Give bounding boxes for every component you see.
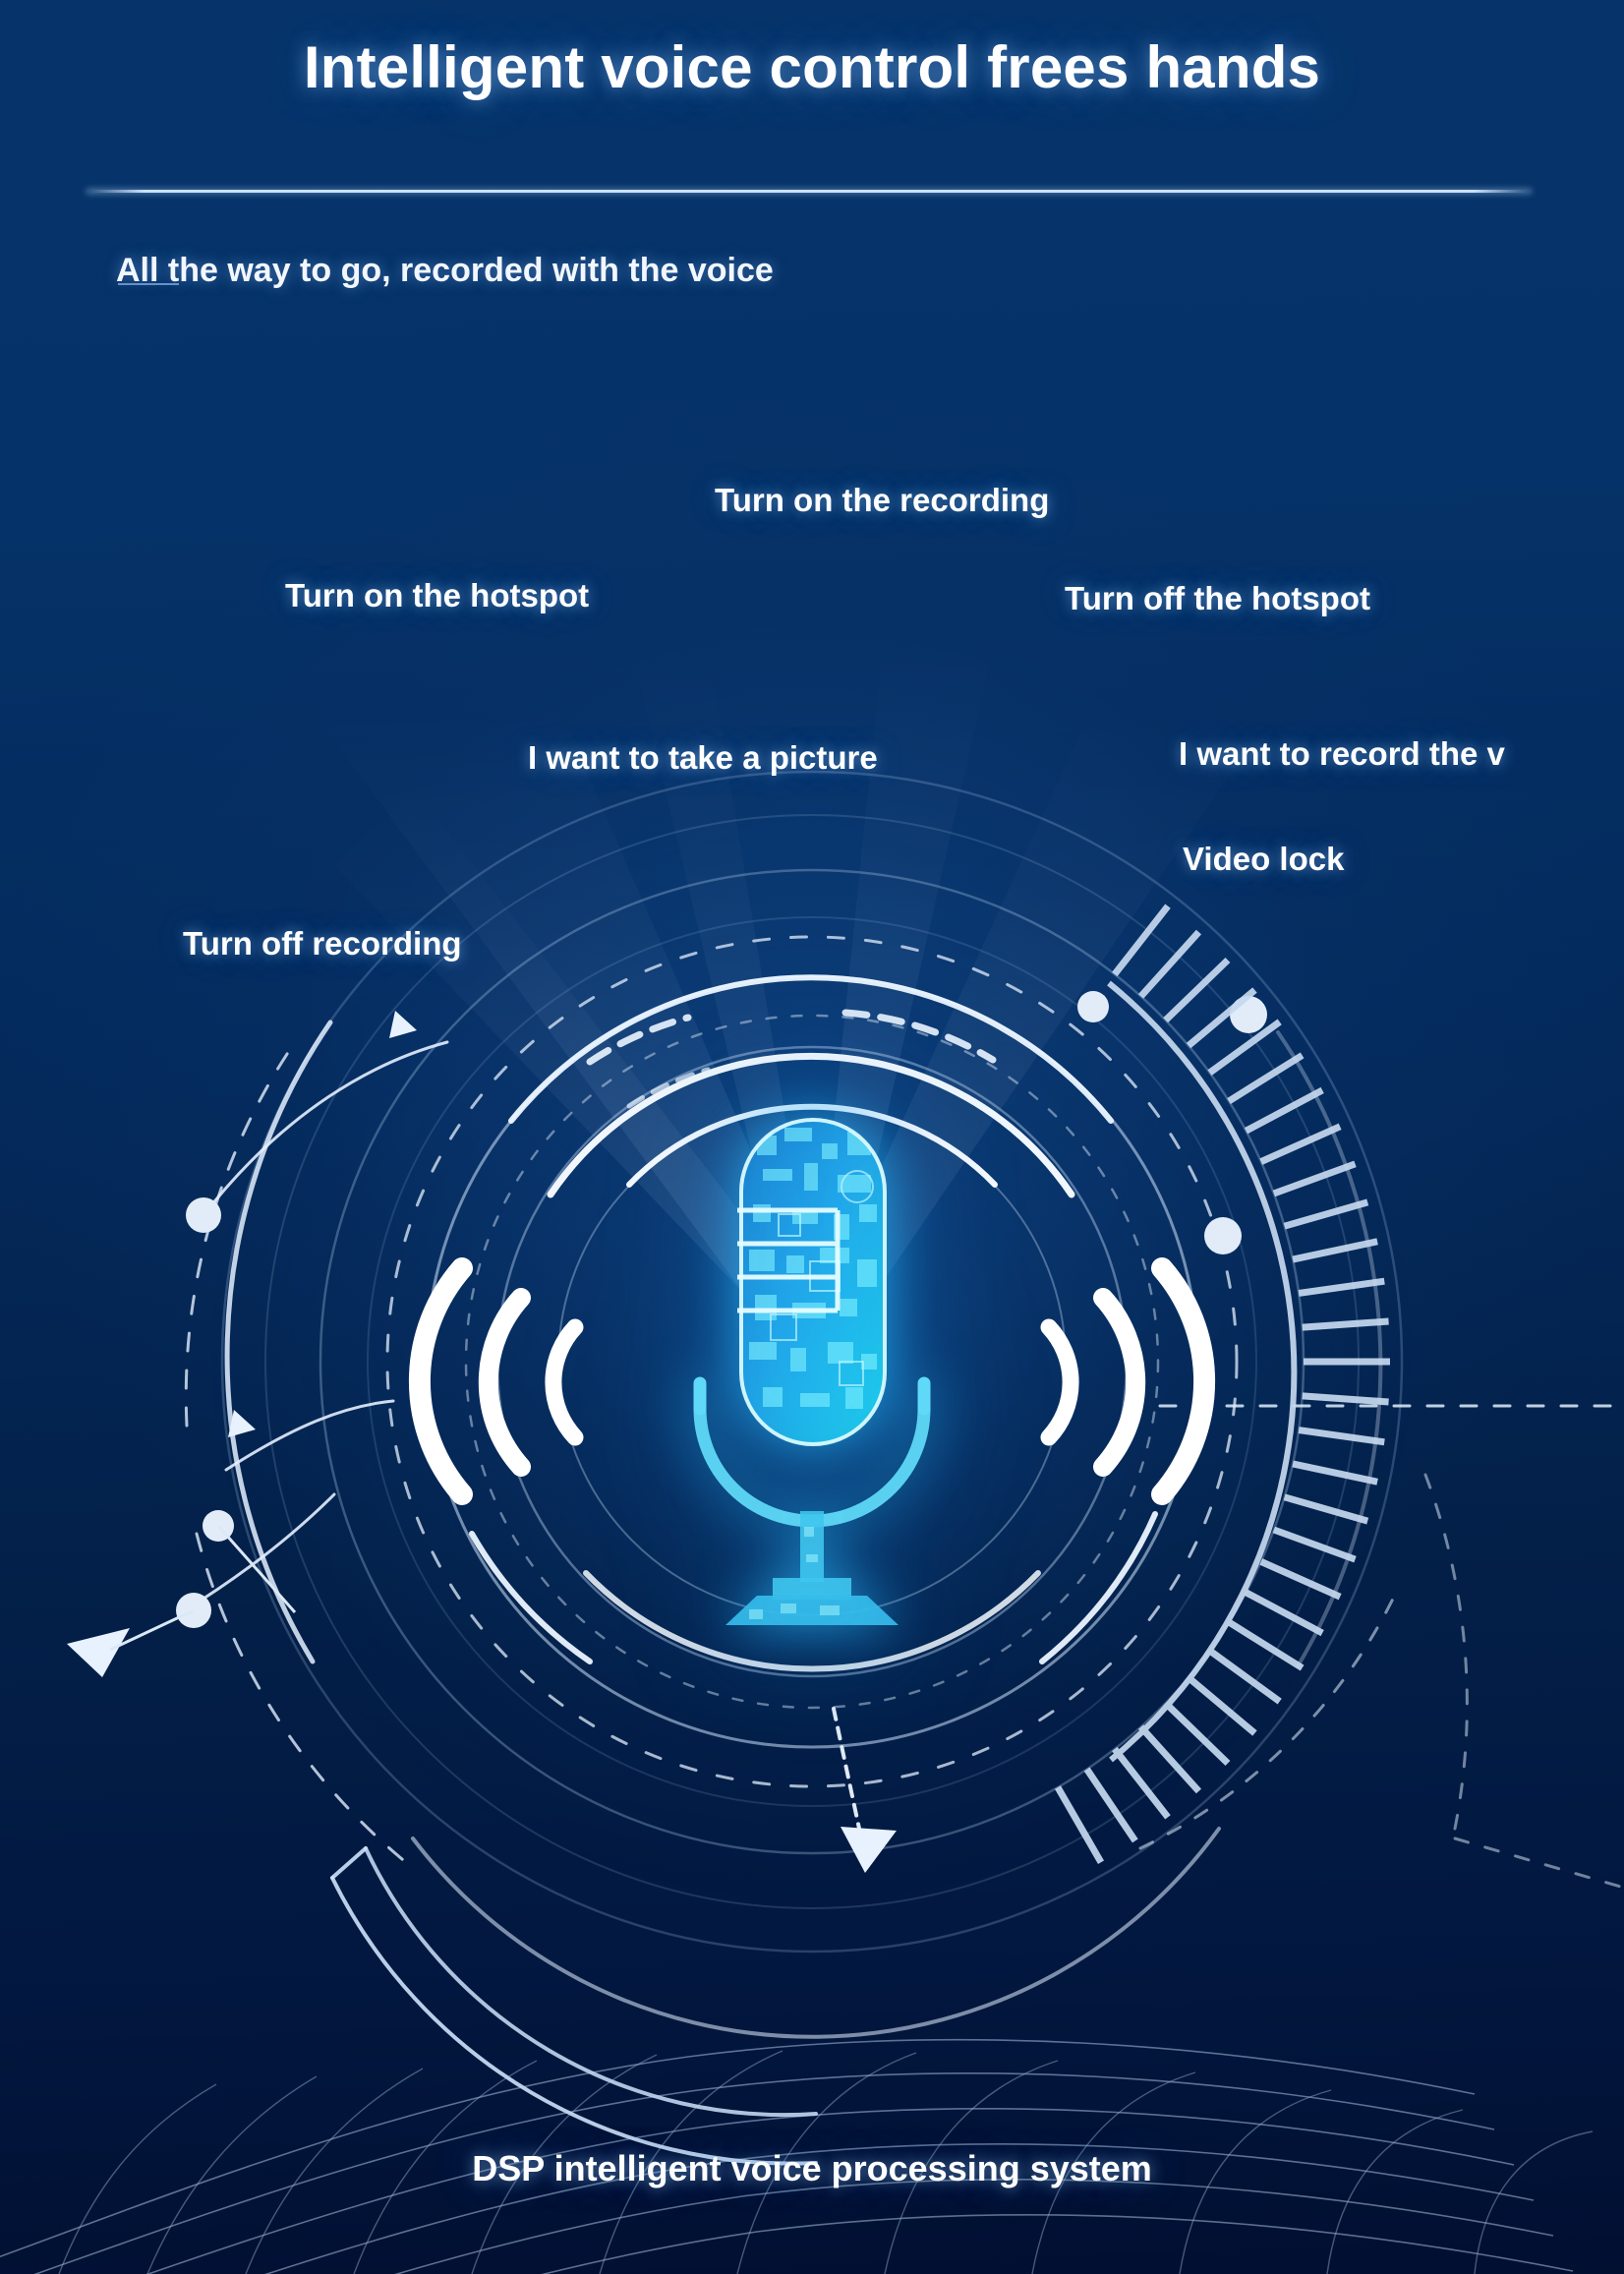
- page-title: Intelligent voice control frees hands: [0, 33, 1624, 101]
- title-divider: [87, 190, 1532, 193]
- microphone-icon: [655, 1067, 969, 1657]
- voice-command-take-a-picture: I want to take a picture: [528, 739, 878, 777]
- voice-command-turn-on-hotspot: Turn on the hotspot: [285, 577, 589, 614]
- subtitle-strike-artifact: [118, 283, 179, 285]
- poster-canvas: Intelligent voice control frees hands Al…: [0, 0, 1624, 2274]
- voice-command-turn-on-recording: Turn on the recording: [715, 482, 1049, 519]
- voice-command-turn-off-recording: Turn off recording: [183, 925, 462, 962]
- sound-wave-right-icon: [1049, 1268, 1204, 1494]
- page-subtitle: All the way to go, recorded with the voi…: [116, 252, 774, 290]
- voice-command-record-video: I want to record the v: [1179, 735, 1505, 773]
- footer-caption: DSP intelligent voice processing system: [0, 2148, 1624, 2189]
- sound-wave-left-icon: [420, 1268, 575, 1494]
- wireframe-mesh: [0, 1947, 1624, 2274]
- radial-tick-gauge: [1058, 906, 1390, 1863]
- voice-command-turn-off-hotspot: Turn off the hotspot: [1065, 580, 1370, 617]
- voice-command-video-lock: Video lock: [1183, 841, 1344, 878]
